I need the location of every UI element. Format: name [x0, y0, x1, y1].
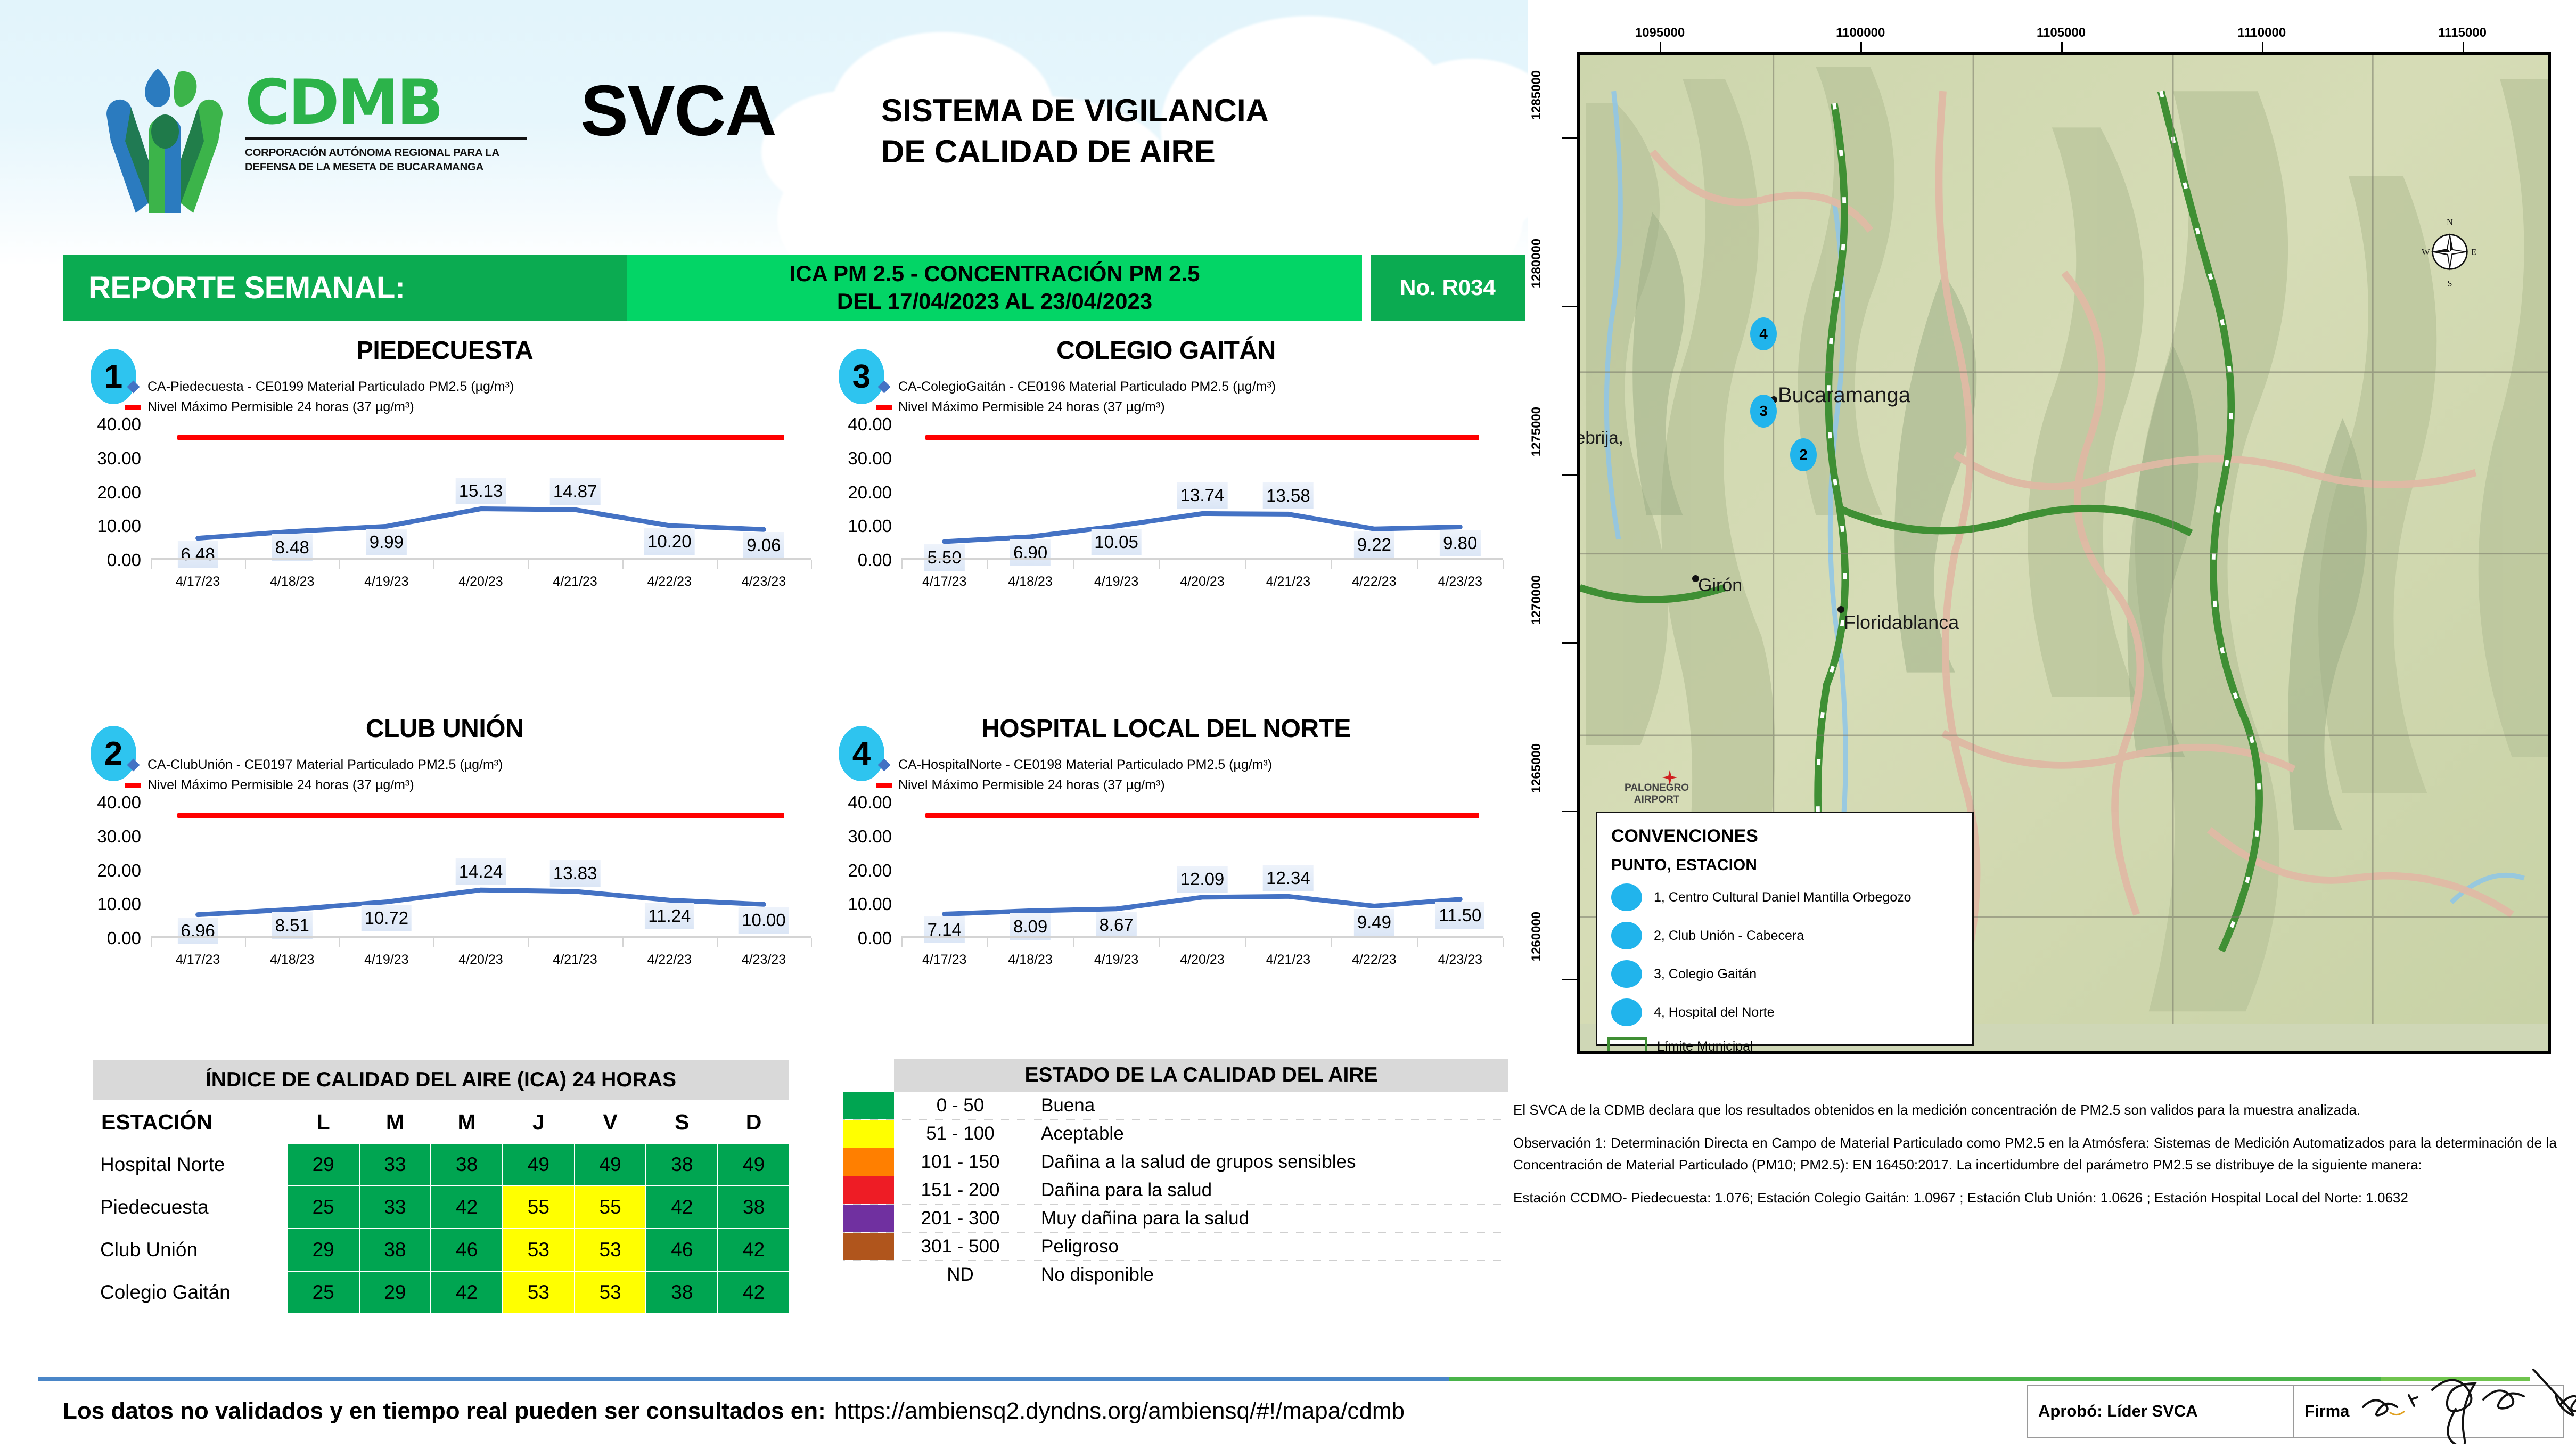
map-y-tick-mark	[1562, 137, 1577, 139]
map-x-tick-label: 1115000	[2438, 26, 2487, 40]
station-marker-icon	[1611, 922, 1642, 949]
ica-value-cell: 38	[646, 1271, 718, 1314]
footer-note-text: Los datos no validados y en tiempo real …	[63, 1398, 826, 1425]
chart-card-club-uni-n: 2CLUB UNIÓN CA-ClubUnión - CE0197 Materi…	[72, 711, 817, 1009]
svg-text:S: S	[2448, 280, 2452, 289]
ica-value-cell: 53	[503, 1271, 575, 1314]
map-marker-2[interactable]: 2	[1790, 438, 1817, 471]
x-axis-tick	[245, 560, 246, 569]
table-row: Hospital Norte29333849493849	[92, 1143, 790, 1186]
data-point-label: 7.14	[924, 916, 965, 943]
city-label-bucaramanga: Bucaramanga	[1778, 383, 1910, 407]
ica-value-cell: 49	[718, 1143, 790, 1186]
ica-col-day-6: S	[646, 1101, 718, 1143]
map-frame: Bucaramanga Girón Floridablanca Piedecue…	[1577, 52, 2551, 1054]
ica-value-cell: 38	[359, 1229, 431, 1271]
ica-col-day-5: V	[575, 1101, 646, 1143]
map-legend-item-label: 3, Colegio Gaitán	[1654, 967, 1757, 982]
x-axis-tick-label: 4/19/23	[1094, 952, 1138, 968]
ica-value-cell: 29	[288, 1143, 359, 1186]
svg-text:E: E	[2471, 248, 2476, 257]
x-axis-tick-label: 4/21/23	[553, 574, 597, 590]
banner-report-label: REPORTE SEMANAL:	[63, 255, 627, 321]
ica-value-cell: 42	[718, 1229, 790, 1271]
map-y-tick-mark	[1562, 642, 1577, 644]
chart-plot: 0.0010.0020.0030.0040.006.488.489.9915.1…	[72, 424, 817, 560]
x-axis-tick	[987, 560, 988, 569]
legend-threshold-row: Nivel Máximo Permisible 24 horas (37 µg/…	[876, 399, 1509, 415]
map-legend-item-2: 2, Club Unión - Cabecera	[1611, 920, 1972, 951]
footer-divider-green	[1449, 1377, 2381, 1381]
ica-table: ÍNDICE DE CALIDAD DEL AIRE (ICA) 24 HORA…	[92, 1059, 790, 1314]
y-axis-tick-label: 20.00	[72, 861, 141, 881]
data-point-label: 6.48	[177, 541, 218, 568]
signature-cell: Firma	[2294, 1386, 2563, 1437]
status-color-swatch	[843, 1261, 894, 1289]
map-legend-boundary-label: Límite Municipal	[1657, 1039, 1753, 1054]
threshold-line-icon	[876, 783, 892, 788]
y-axis-tick-label: 40.00	[823, 414, 892, 435]
status-color-swatch	[843, 1120, 894, 1148]
status-color-swatch	[843, 1176, 894, 1204]
ica-value-cell: 38	[646, 1143, 718, 1186]
x-axis-tick	[433, 560, 434, 569]
legend-threshold-row: Nivel Máximo Permisible 24 horas (37 µg/…	[876, 777, 1509, 793]
map-x-tick-mark	[2262, 42, 2263, 52]
x-axis-tick	[339, 560, 340, 569]
x-axis-tick	[339, 938, 340, 947]
x-axis-tick	[717, 938, 718, 947]
x-axis-tick	[245, 938, 246, 947]
map-y-tick-label: 1260000	[1529, 912, 1544, 961]
station-marker-icon	[1611, 998, 1642, 1026]
x-axis-tick-label: 4/19/23	[364, 574, 408, 590]
list-item: 101 - 150 Dañina a la salud de grupos se…	[843, 1148, 1508, 1176]
legend-series-label: CA-ClubUnión - CE0197 Material Particula…	[147, 757, 503, 773]
data-point-label: 12.34	[1263, 865, 1314, 891]
ica-table-title: ÍNDICE DE CALIDAD DEL AIRE (ICA) 24 HORA…	[92, 1059, 790, 1101]
cdmb-logo: CDMB CORPORACIÓN AUTÓNOMA REGIONAL PARA …	[85, 61, 527, 216]
station-badge-2: 2	[91, 726, 136, 781]
x-axis-line	[901, 558, 1503, 560]
chart-plot: 0.0010.0020.0030.0040.005.506.9010.0513.…	[823, 424, 1509, 560]
ica-value-cell: 42	[646, 1186, 718, 1229]
status-range: 201 - 300	[894, 1205, 1027, 1232]
ica-col-day-7: D	[718, 1101, 790, 1143]
chart-title: HOSPITAL LOCAL DEL NORTE	[823, 714, 1509, 743]
city-label-floridablanca: Floridablanca	[1844, 611, 1959, 634]
x-axis-tick-label: 4/20/23	[458, 574, 503, 590]
banner-gap	[1362, 255, 1371, 321]
ica-col-station: ESTACIÓN	[92, 1101, 288, 1143]
legend-series-row: CA-ColegioGaitán - CE0196 Material Parti…	[876, 379, 1509, 395]
data-point-label: 14.24	[456, 858, 506, 885]
data-point-label: 11.50	[1435, 902, 1484, 929]
chart-title: PIEDECUESTA	[72, 336, 817, 365]
ica-value-cell: 53	[503, 1229, 575, 1271]
x-axis-tick-label: 4/17/23	[922, 574, 966, 590]
legend-threshold-label: Nivel Máximo Permisible 24 horas (37 µg/…	[898, 777, 1165, 793]
x-axis-tick-label: 4/22/23	[647, 574, 692, 590]
status-color-swatch	[843, 1148, 894, 1176]
report-banner: REPORTE SEMANAL: ICA PM 2.5 - CONCENTRAC…	[63, 255, 1525, 321]
data-point-label: 9.22	[1354, 531, 1394, 558]
list-item: 151 - 200 Dañina para la salud	[843, 1176, 1508, 1205]
data-point-label: 10.20	[644, 528, 695, 555]
ica-table-header-row: ESTACIÓNLMMJVSD	[92, 1101, 790, 1143]
status-color-swatch	[843, 1205, 894, 1232]
map-x-tick-label: 1100000	[1836, 26, 1885, 40]
approved-by-label: Aprobó: Líder SVCA	[2028, 1386, 2294, 1437]
map-legend-boundary-row: Límite Municipal	[1611, 1031, 1972, 1054]
estado-title: ESTADO DE LA CALIDAD DEL AIRE	[894, 1059, 1508, 1092]
legend-series-row: CA-HospitalNorte - CE0198 Material Parti…	[876, 757, 1509, 773]
cdmb-full-name-line2: DEFENSA DE LA MESETA DE BUCARAMANGA	[245, 160, 527, 174]
table-row: Colegio Gaitán25294253533842	[92, 1271, 790, 1314]
map-legend-item-4: 4, Hospital del Norte	[1611, 997, 1972, 1028]
chart-title: COLEGIO GAITÁN	[823, 336, 1509, 365]
ica-value-cell: 46	[646, 1229, 718, 1271]
legend-threshold-label: Nivel Máximo Permisible 24 horas (37 µg/…	[898, 399, 1165, 415]
y-axis-tick-label: 0.00	[823, 928, 892, 948]
x-axis-tick	[1073, 560, 1074, 569]
chart-legend: CA-ClubUnión - CE0197 Material Particula…	[72, 757, 817, 793]
ica-value-cell: 42	[431, 1271, 503, 1314]
legend-threshold-label: Nivel Máximo Permisible 24 horas (37 µg/…	[147, 777, 414, 793]
map-y-tick-mark	[1562, 811, 1577, 812]
map-legend-item-label: 2, Club Unión - Cabecera	[1654, 928, 1804, 944]
status-color-swatch	[843, 1233, 894, 1260]
data-point-label: 14.87	[550, 478, 601, 505]
y-axis-tick-label: 20.00	[72, 482, 141, 503]
map-legend-item-1: 1, Centro Cultural Daniel Mantilla Orbeg…	[1611, 882, 1972, 913]
x-axis-tick	[528, 938, 529, 947]
ica-value-cell: 46	[431, 1229, 503, 1271]
data-point-label: 10.05	[1091, 529, 1142, 555]
svca-subtitle: SISTEMA DE VIGILANCIA DE CALIDAD DE AIRE	[881, 91, 1269, 173]
ica-value-cell: 42	[718, 1271, 790, 1314]
table-row: Club Unión29384653534642	[92, 1229, 790, 1271]
banner-period-line1: ICA PM 2.5 - CONCENTRACIÓN PM 2.5	[790, 260, 1200, 288]
y-axis-tick-label: 10.00	[823, 894, 892, 914]
list-item: 51 - 100 Aceptable	[843, 1120, 1508, 1148]
x-axis-tick-label: 4/23/23	[742, 952, 786, 968]
status-range: 151 - 200	[894, 1176, 1027, 1204]
chart-legend: CA-Piedecuesta - CE0199 Material Particu…	[72, 379, 817, 415]
x-axis-tick	[1331, 938, 1332, 947]
x-axis-tick	[901, 560, 903, 569]
ica-value-cell: 49	[575, 1143, 646, 1186]
legend-series-row: CA-Piedecuesta - CE0199 Material Particu…	[125, 379, 817, 395]
map-x-tick-label: 1105000	[2037, 26, 2086, 40]
x-axis-tick	[1159, 938, 1160, 947]
station-badge-3: 3	[839, 349, 884, 404]
x-axis-tick-label: 4/19/23	[1094, 574, 1138, 590]
map-y-tick-label: 1285000	[1529, 70, 1544, 120]
status-range: 301 - 500	[894, 1233, 1027, 1260]
status-description: Aceptable	[1027, 1120, 1508, 1148]
status-color-swatch	[843, 1092, 894, 1119]
threshold-line-icon	[125, 405, 141, 410]
legend-threshold-row: Nivel Máximo Permisible 24 horas (37 µg/…	[125, 777, 817, 793]
x-axis-tick-label: 4/23/23	[1438, 952, 1482, 968]
y-axis-tick-label: 30.00	[823, 826, 892, 847]
status-description: Muy dañina para la salud	[1027, 1205, 1508, 1232]
x-axis-tick-label: 4/17/23	[176, 952, 220, 968]
svca-acronym: SVCA	[580, 69, 776, 152]
ica-station-name: Piedecuesta	[92, 1186, 288, 1229]
data-point-label: 12.09	[1177, 866, 1228, 893]
x-axis-tick-label: 4/19/23	[364, 952, 408, 968]
ica-value-cell: 49	[503, 1143, 575, 1186]
ica-value-cell: 53	[575, 1271, 646, 1314]
threshold-line-icon	[876, 405, 892, 410]
station-badge-1: 1	[91, 349, 136, 404]
signature-label: Firma	[2304, 1402, 2349, 1421]
city-label-giron: Girón	[1698, 575, 1742, 596]
map-legend-item-3: 3, Colegio Gaitán	[1611, 959, 1972, 989]
cdmb-logo-mark	[85, 61, 245, 213]
airport-type: AIRPORT	[1625, 794, 1689, 806]
plot-area: 6.488.489.9915.1314.8710.209.064/17/234/…	[151, 424, 811, 560]
x-axis-tick-label: 4/20/23	[1180, 574, 1224, 590]
map-legend-item-label: 1, Centro Cultural Daniel Mantilla Orbeg…	[1654, 890, 1912, 905]
map-legend-title: CONVENCIONES	[1611, 826, 1972, 847]
chart-card-colegio-gait-n: 3COLEGIO GAITÁN CA-ColegioGaitán - CE019…	[823, 333, 1509, 631]
data-point-label: 9.49	[1354, 909, 1394, 936]
ica-station-name: Club Unión	[92, 1229, 288, 1271]
airplane-icon	[1661, 768, 1679, 787]
ica-value-cell: 42	[431, 1186, 503, 1229]
legend-series-row: CA-ClubUnión - CE0197 Material Particula…	[125, 757, 817, 773]
map-x-tick-label: 1110000	[2237, 26, 2286, 40]
y-axis-tick-label: 20.00	[823, 861, 892, 881]
map-x-tick-mark	[1660, 42, 1661, 52]
y-axis-tick-label: 30.00	[72, 826, 141, 847]
list-item: 301 - 500 Peligroso	[843, 1233, 1508, 1261]
data-point-label: 10.00	[739, 907, 789, 934]
svca-subtitle-line2: DE CALIDAD DE AIRE	[881, 132, 1269, 173]
chart-plot: 0.0010.0020.0030.0040.007.148.098.6712.0…	[823, 803, 1509, 938]
ica-value-cell: 29	[288, 1229, 359, 1271]
x-axis-tick-label: 4/22/23	[647, 952, 692, 968]
x-axis-tick	[1159, 560, 1160, 569]
x-axis-tick-label: 4/18/23	[1008, 574, 1052, 590]
x-axis-tick	[1417, 560, 1418, 569]
city-label-lebrija: ebrija,	[1577, 428, 1623, 448]
status-range: 101 - 150	[894, 1148, 1027, 1176]
ica-col-day-1: L	[288, 1101, 359, 1143]
x-axis-tick	[1245, 560, 1246, 569]
map-y-tick-label: 1275000	[1529, 407, 1544, 456]
plot-area: 6.968.5110.7214.2413.8311.2410.004/17/23…	[151, 803, 811, 938]
ica-col-day-3: M	[431, 1101, 503, 1143]
x-axis-tick	[151, 560, 152, 569]
banner-period-line2: DEL 17/04/2023 AL 23/04/2023	[837, 288, 1152, 316]
data-point-label: 6.96	[177, 918, 218, 944]
y-axis-tick-label: 10.00	[823, 516, 892, 536]
chart-plot: 0.0010.0020.0030.0040.006.968.5110.7214.…	[72, 803, 817, 938]
x-axis-tick	[1417, 938, 1418, 947]
status-range: ND	[894, 1261, 1027, 1289]
data-point-label: 6.90	[1010, 539, 1051, 566]
data-point-label: 10.72	[362, 905, 412, 931]
data-point-label: 9.06	[743, 532, 784, 559]
x-axis-tick	[151, 938, 152, 947]
ica-value-cell: 25	[288, 1271, 359, 1314]
x-axis-tick	[987, 938, 988, 947]
map-y-tick-mark	[1562, 979, 1577, 980]
municipal-boundary-icon	[1607, 1037, 1647, 1054]
threshold-line-icon	[125, 783, 141, 788]
x-axis-tick	[1245, 938, 1246, 947]
x-axis-tick-label: 4/20/23	[458, 952, 503, 968]
ica-value-cell: 53	[575, 1229, 646, 1271]
status-description: Dañina para la salud	[1027, 1176, 1508, 1204]
x-axis-tick-label: 4/17/23	[922, 952, 966, 968]
data-point-label: 9.80	[1440, 530, 1480, 556]
x-axis-tick	[1073, 938, 1074, 947]
data-point-label: 11.24	[645, 903, 694, 929]
status-description: Dañina a la salud de grupos sensibles	[1027, 1148, 1508, 1176]
note-observation-1: Observación 1: Determinación Directa en …	[1513, 1132, 2557, 1175]
x-axis-tick-label: 4/21/23	[1266, 574, 1310, 590]
x-axis-tick-label: 4/22/23	[1352, 574, 1396, 590]
footer-divider	[38, 1377, 2530, 1381]
status-range: 51 - 100	[894, 1120, 1027, 1148]
x-axis-tick	[1331, 560, 1332, 569]
map-x-tick-mark	[2463, 42, 2464, 52]
plot-area: 5.506.9010.0513.7413.589.229.804/17/234/…	[901, 424, 1503, 560]
map-x-tick-mark	[1860, 42, 1862, 52]
map-marker-4[interactable]: 4	[1750, 317, 1777, 350]
x-axis-tick	[433, 938, 434, 947]
station-badge-4: 4	[839, 726, 884, 781]
legend-series-label: CA-HospitalNorte - CE0198 Material Parti…	[898, 757, 1272, 773]
x-axis-tick-label: 4/22/23	[1352, 952, 1396, 968]
chart-card-hospital-local-del-norte: 4HOSPITAL LOCAL DEL NORTE CA-HospitalNor…	[823, 711, 1509, 1009]
footer-url[interactable]: https://ambiensq2.dyndns.org/ambiensq/#!…	[834, 1398, 1405, 1425]
map-legend-subtitle: PUNTO, ESTACION	[1611, 856, 1972, 874]
y-axis-tick-label: 0.00	[72, 928, 141, 948]
x-axis-tick	[622, 560, 624, 569]
y-axis-tick-label: 30.00	[72, 448, 141, 469]
y-axis-tick-label: 40.00	[823, 792, 892, 813]
map-y-tick-mark	[1562, 306, 1577, 307]
table-row: Piedecuesta25334255554238	[92, 1186, 790, 1229]
chart-card-piedecuesta: 1PIEDECUESTA CA-Piedecuesta - CE0199 Mat…	[72, 333, 817, 631]
x-axis-tick-label: 4/18/23	[270, 574, 314, 590]
x-axis-tick-label: 4/23/23	[742, 574, 786, 590]
svg-text:W: W	[2422, 248, 2430, 257]
ica-value-cell: 29	[359, 1271, 431, 1314]
map-marker-3[interactable]: 3	[1750, 395, 1777, 428]
list-item: ND No disponible	[843, 1261, 1508, 1289]
x-axis-tick	[811, 560, 812, 569]
ica-value-cell: 25	[288, 1186, 359, 1229]
y-axis-tick-label: 20.00	[823, 482, 892, 503]
y-axis-tick-label: 40.00	[72, 792, 141, 813]
legend-series-label: CA-ColegioGaitán - CE0196 Material Parti…	[898, 379, 1276, 395]
data-point-label: 9.99	[366, 529, 407, 555]
cdmb-full-name-line1: CORPORACIÓN AUTÓNOMA REGIONAL PARA LA	[245, 145, 527, 160]
x-axis-tick	[1503, 560, 1504, 569]
list-item: 201 - 300 Muy dañina para la salud	[843, 1205, 1508, 1233]
ica-value-cell: 33	[359, 1143, 431, 1186]
ica-col-day-2: M	[359, 1101, 431, 1143]
ica-value-cell: 33	[359, 1186, 431, 1229]
data-point-label: 13.74	[1177, 482, 1228, 509]
status-range: 0 - 50	[894, 1092, 1027, 1119]
ica-station-name: Colegio Gaitán	[92, 1271, 288, 1314]
palonegro-airport-label: PALONEGRO AIRPORT	[1625, 782, 1689, 806]
y-axis-tick-label: 40.00	[72, 414, 141, 435]
chart-legend: CA-HospitalNorte - CE0198 Material Parti…	[823, 757, 1509, 793]
station-marker-icon	[1611, 883, 1642, 911]
station-location-map: 10950001100000110500011100001115000 1285…	[1529, 16, 2559, 1057]
x-axis-tick-label: 4/23/23	[1438, 574, 1482, 590]
compass-rose-icon: N S E W	[2421, 215, 2479, 289]
legend-threshold-label: Nivel Máximo Permisible 24 horas (37 µg/…	[147, 399, 414, 415]
data-point-label: 8.48	[272, 534, 313, 561]
x-axis-tick-label: 4/18/23	[1008, 952, 1052, 968]
y-axis-tick-label: 10.00	[72, 894, 141, 914]
status-description: Peligroso	[1027, 1233, 1508, 1260]
status-description: Buena	[1027, 1092, 1508, 1119]
approval-signature-box: Aprobó: Líder SVCA Firma	[2027, 1385, 2564, 1438]
x-axis-tick	[811, 938, 812, 947]
map-x-tick-mark	[2061, 42, 2063, 52]
x-axis-line	[151, 936, 811, 938]
x-axis-tick-label: 4/18/23	[270, 952, 314, 968]
legend-threshold-row: Nivel Máximo Permisible 24 horas (37 µg/…	[125, 399, 817, 415]
x-axis-tick	[717, 560, 718, 569]
x-axis-tick-label: 4/17/23	[176, 574, 220, 590]
note-uncertainty: Estación CCDMO- Piedecuesta: 1.076; Esta…	[1513, 1187, 2557, 1208]
plot-area: 7.148.098.6712.0912.349.4911.504/17/234/…	[901, 803, 1503, 938]
ica-value-cell: 38	[431, 1143, 503, 1186]
y-axis-tick-label: 30.00	[823, 448, 892, 469]
disclaimer-notes: El SVCA de la CDMB declara que los resul…	[1513, 1099, 2557, 1220]
y-axis-tick-label: 0.00	[72, 550, 141, 570]
x-axis-tick	[622, 938, 624, 947]
x-axis-line	[151, 558, 811, 560]
map-legend-item-label: 4, Hospital del Norte	[1654, 1005, 1775, 1020]
ica-value-cell: 55	[503, 1186, 575, 1229]
map-y-tick-label: 1280000	[1529, 239, 1544, 288]
data-point-label: 13.58	[1263, 482, 1314, 509]
banner-period: ICA PM 2.5 - CONCENTRACIÓN PM 2.5 DEL 17…	[627, 255, 1362, 321]
chart-title: CLUB UNIÓN	[72, 714, 817, 743]
footer-note: Los datos no validados y en tiempo real …	[63, 1398, 1405, 1425]
footer-divider-blue	[38, 1377, 1449, 1381]
x-axis-tick-label: 4/21/23	[553, 952, 597, 968]
x-axis-tick-label: 4/21/23	[1266, 952, 1310, 968]
x-axis-tick	[1503, 938, 1504, 947]
map-legend-conventions: CONVENCIONES PUNTO, ESTACION 1, Centro C…	[1596, 812, 1974, 1046]
map-y-tick-label: 1270000	[1529, 575, 1544, 625]
data-point-label: 13.83	[550, 860, 601, 887]
map-y-tick-mark	[1562, 474, 1577, 476]
map-y-tick-label: 1265000	[1529, 743, 1544, 793]
station-marker-icon	[1611, 960, 1642, 988]
x-axis-tick	[901, 938, 903, 947]
note-validity: El SVCA de la CDMB declara que los resul…	[1513, 1099, 2557, 1120]
cdmb-logo-text: CDMB CORPORACIÓN AUTÓNOMA REGIONAL PARA …	[245, 72, 527, 174]
svca-subtitle-line1: SISTEMA DE VIGILANCIA	[881, 91, 1269, 132]
banner-report-number: No. R034	[1371, 255, 1525, 321]
ica-value-cell: 55	[575, 1186, 646, 1229]
